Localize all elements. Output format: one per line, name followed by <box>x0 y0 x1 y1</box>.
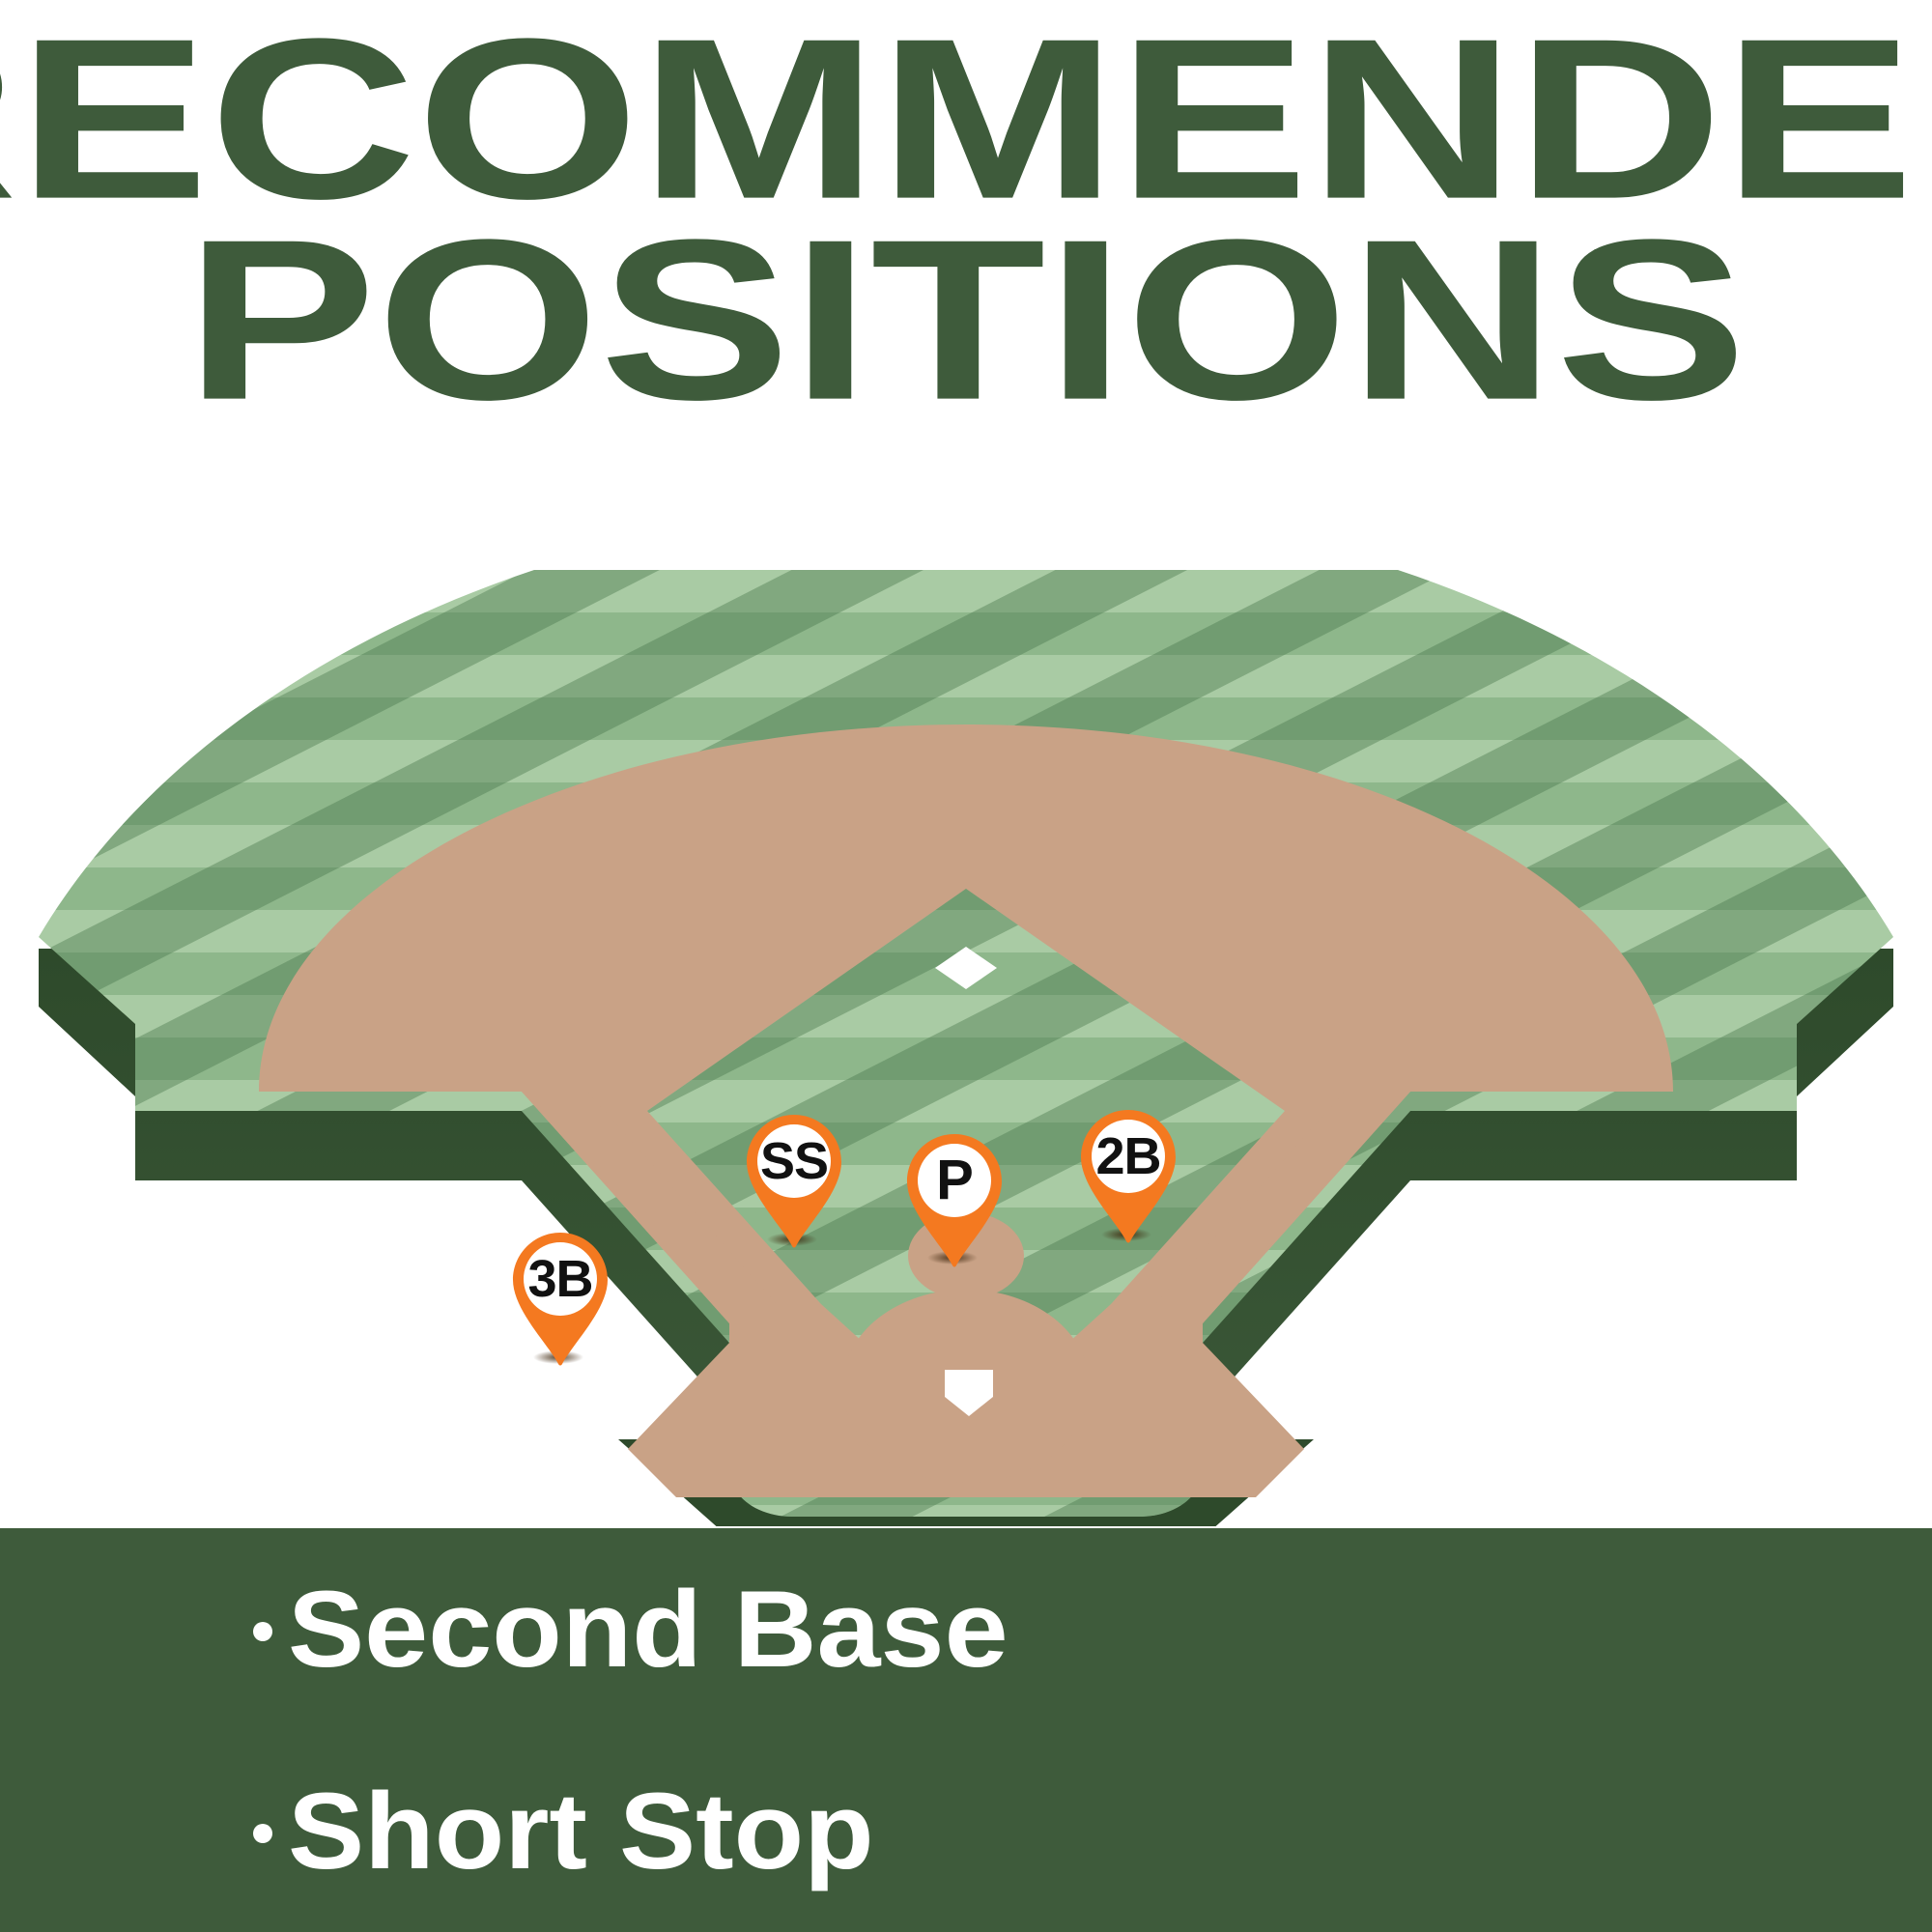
positions-banner: Second Base Third Base Short Stop Pitche… <box>0 1528 1932 1932</box>
bullet-icon <box>253 1824 272 1843</box>
list-item-pitcher: Pitcher <box>966 1777 1932 1886</box>
infographic-page: RECOMMENDED POSITIONS <box>0 0 1932 1932</box>
positions-list: Second Base Third Base Short Stop Pitche… <box>0 1528 1932 1932</box>
marker-label-second-base: 2B <box>1078 1121 1179 1192</box>
list-item-second-base: Second Base <box>0 1576 966 1684</box>
list-item-third-base: Third Base <box>966 1576 1932 1684</box>
third-base-marker <box>518 1381 583 1424</box>
marker-label-short-stop: SS <box>744 1125 844 1197</box>
marker-label-pitcher: P <box>904 1145 1005 1216</box>
marker-label-third-base: 3B <box>510 1243 611 1315</box>
marker-pin-third-base[interactable]: 3B <box>510 1231 611 1368</box>
page-title-line-2: POSITIONS <box>0 222 1932 419</box>
marker-pin-pitcher[interactable]: P <box>904 1132 1005 1269</box>
list-item-short-stop: Short Stop <box>0 1777 966 1886</box>
first-base-marker <box>1350 1381 1416 1424</box>
page-title: RECOMMENDED POSITIONS <box>0 21 1932 414</box>
marker-pin-short-stop[interactable]: SS <box>744 1113 844 1250</box>
field-illustration <box>0 570 1932 1526</box>
baseball-field-diagram: SS 2B 3B P <box>0 570 1932 1526</box>
list-item-label: Second Base <box>288 1576 1009 1684</box>
page-title-line-1: RECOMMENDED <box>0 21 1932 218</box>
list-item-label: Short Stop <box>288 1777 874 1886</box>
bullet-icon <box>253 1622 272 1641</box>
marker-pin-second-base[interactable]: 2B <box>1078 1108 1179 1245</box>
